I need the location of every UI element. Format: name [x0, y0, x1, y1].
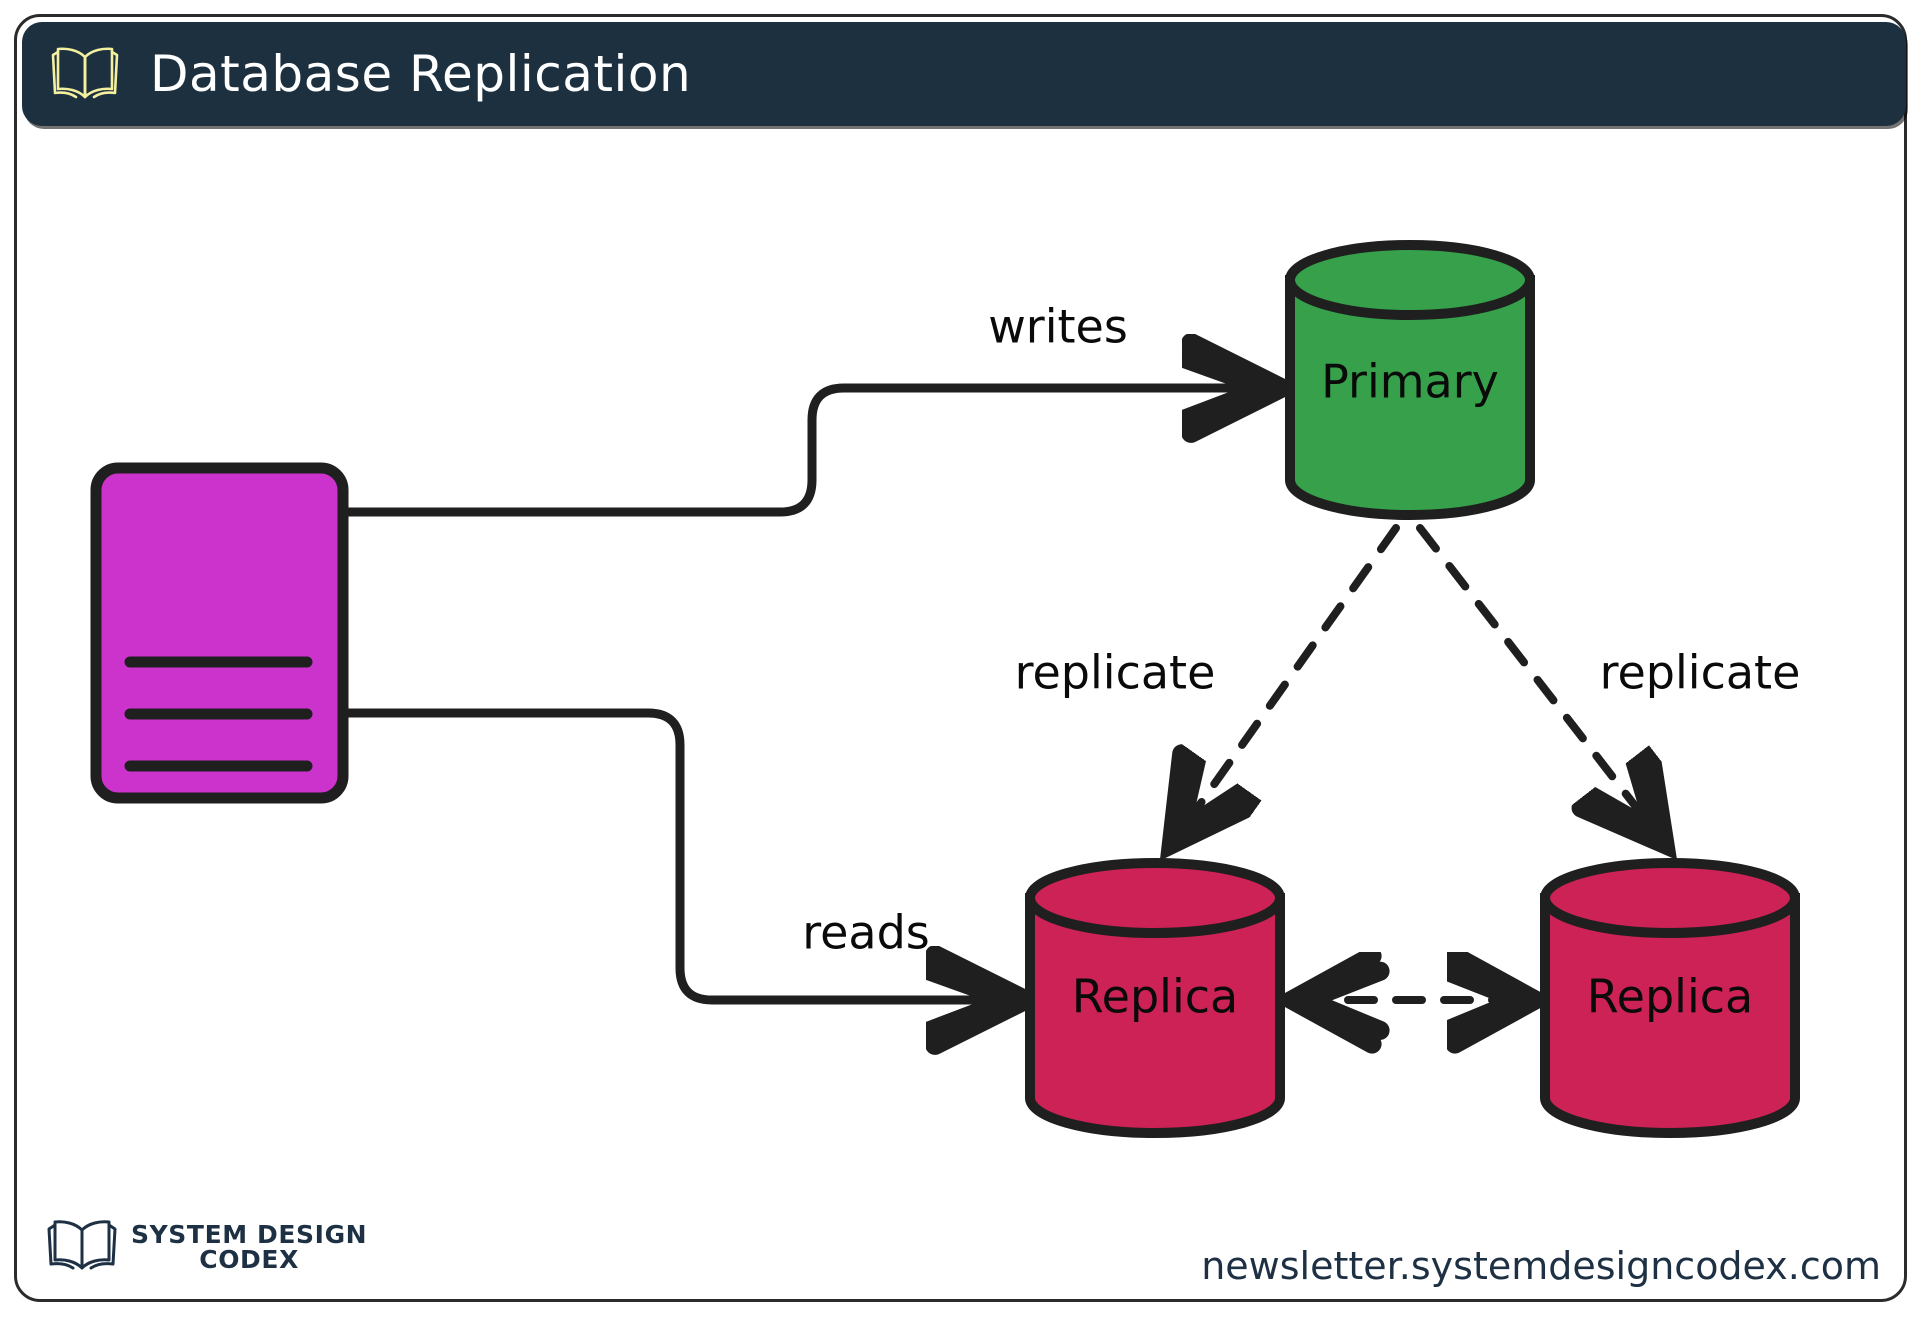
node-client[interactable] [96, 468, 343, 798]
footer-logo: SYSTEM DESIGN CODEX [45, 1218, 367, 1276]
brand-line-2: CODEX [131, 1247, 367, 1273]
brand-line-1: SYSTEM DESIGN [131, 1222, 367, 1248]
node-replica-right[interactable]: Replica [1545, 863, 1795, 1133]
edge-writes [343, 388, 1272, 512]
primary-label: Primary [1321, 355, 1499, 409]
open-book-icon [45, 1218, 119, 1276]
edge-label-reads: reads [802, 906, 930, 960]
node-primary[interactable]: Primary [1290, 245, 1530, 515]
client-box [96, 468, 343, 798]
diagram-page: Database Replication [0, 0, 1929, 1319]
replica-right-label: Replica [1587, 970, 1753, 1024]
edge-label-writes: writes [988, 300, 1128, 354]
edge-label-replicate-right: replicate [1600, 646, 1801, 700]
diagram-canvas: writes reads replicate replicate Primary… [0, 0, 1929, 1319]
footer-brand: SYSTEM DESIGN CODEX [131, 1222, 367, 1273]
footer-url[interactable]: newsletter.systemdesigncodex.com [1201, 1244, 1881, 1288]
replica-right-cylinder-top [1545, 863, 1795, 933]
replica-left-cylinder-top [1030, 863, 1280, 933]
node-replica-left[interactable]: Replica [1030, 863, 1280, 1133]
edge-label-replicate-left: replicate [1015, 646, 1216, 700]
primary-cylinder-top [1290, 245, 1530, 315]
replica-left-label: Replica [1072, 970, 1238, 1024]
